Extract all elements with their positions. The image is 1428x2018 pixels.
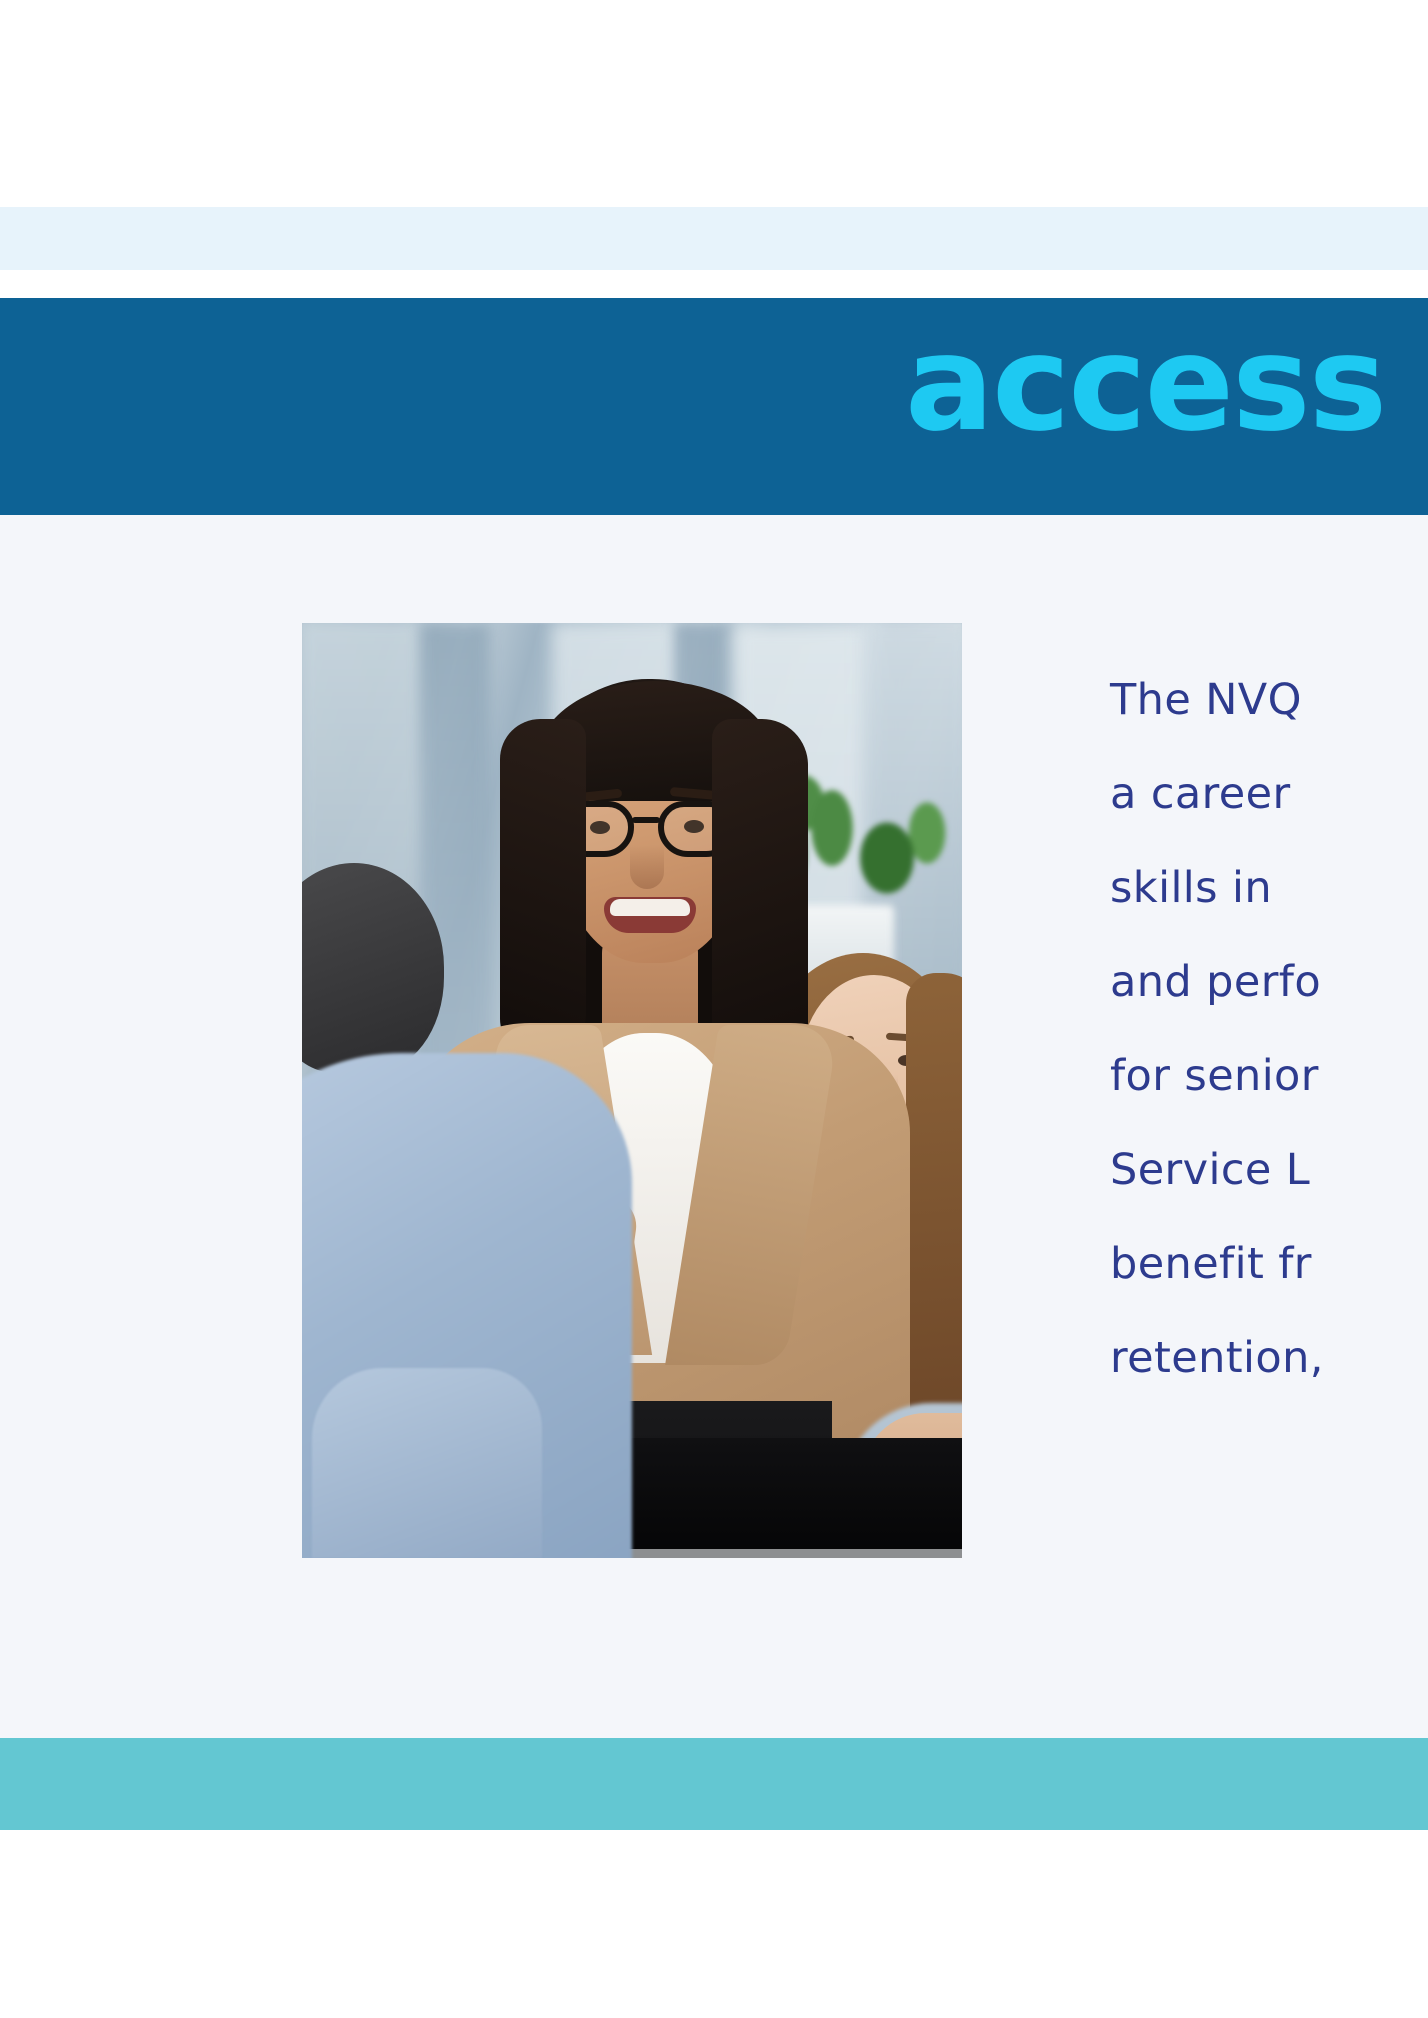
photo-foreground-sleeve: [312, 1368, 542, 1558]
photo-glasses-bridge: [632, 817, 660, 823]
photo-speaker-hair-left: [500, 719, 586, 1059]
photo-scene: [302, 623, 962, 1558]
body-line: The NVQ: [1110, 653, 1428, 747]
body-line: and perfo: [1110, 935, 1428, 1029]
pale-blue-accent-strip: [0, 207, 1428, 270]
body-line: benefit fr: [1110, 1217, 1428, 1311]
photo-speaker-nose: [630, 845, 664, 889]
page-title: access: [905, 318, 1385, 450]
footer-teal-bar: [0, 1738, 1428, 1830]
office-meeting-photo: [302, 623, 962, 1558]
photo-speaker-teeth: [610, 899, 690, 916]
body-line: skills in: [1110, 841, 1428, 935]
body-line: for senior: [1110, 1029, 1428, 1123]
body-paragraph: The NVQ a career skills in and perfo for…: [1110, 653, 1428, 1405]
photo-nurse-hair-front: [906, 973, 962, 1453]
body-line: a career: [1110, 747, 1428, 841]
bottom-white-gutter: [0, 1830, 1428, 2018]
header-band: access: [0, 298, 1428, 515]
photo-speaker-mouth: [604, 897, 696, 933]
body-line: retention,: [1110, 1311, 1428, 1405]
body-line: Service L: [1110, 1123, 1428, 1217]
top-white-gutter: [0, 0, 1428, 207]
content-panel: The NVQ a career skills in and perfo for…: [0, 515, 1428, 1738]
white-separator: [0, 270, 1428, 298]
